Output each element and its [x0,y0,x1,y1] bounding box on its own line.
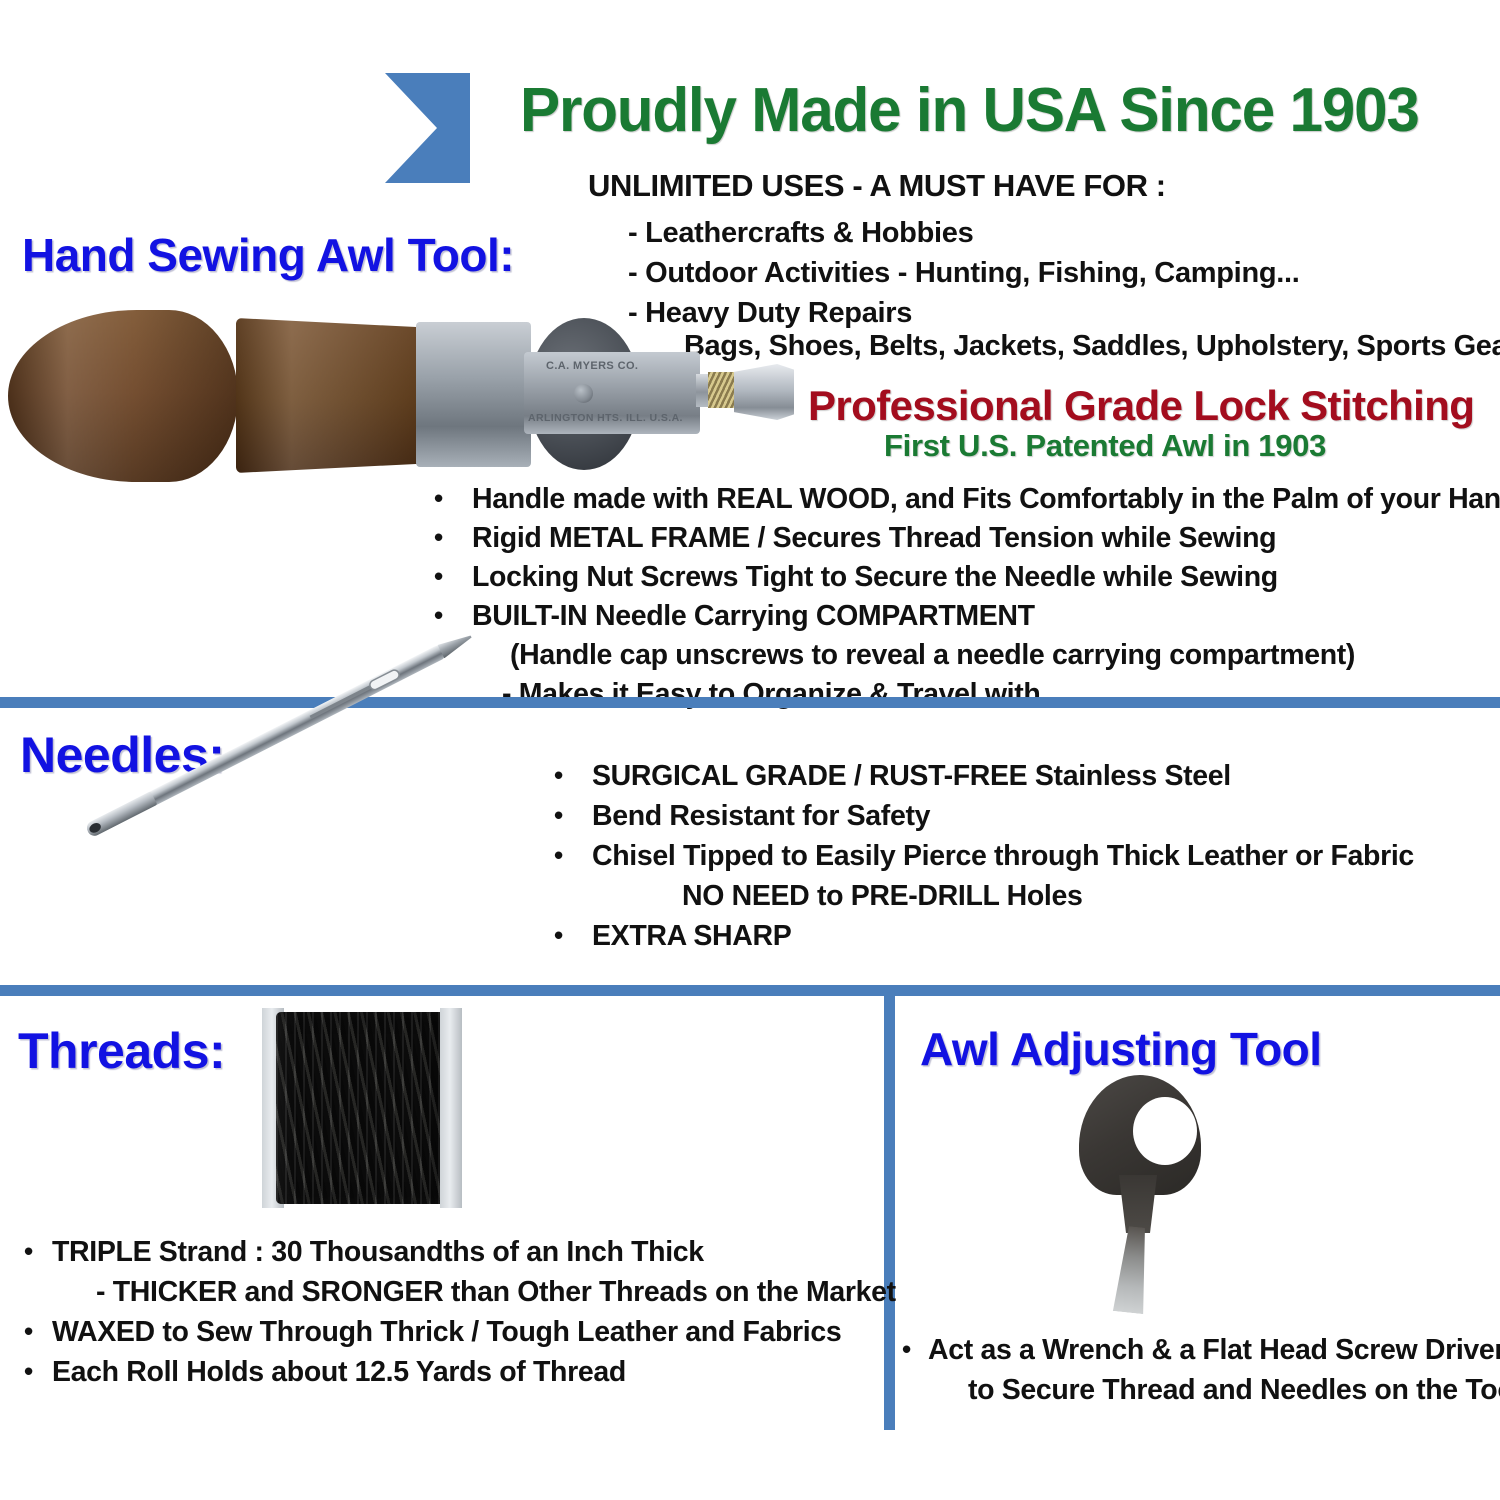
needle-hollow-shank [85,791,158,838]
list-item: Locking Nut Screws Tight to Secure the N… [472,558,1500,597]
awl-section-heading: Hand Sewing Awl Tool: [22,228,514,282]
unlimited-uses-title: UNLIMITED USES - A MUST HAVE FOR : [588,168,1166,204]
awl-engraving-location: ARLINGTON HTS. ILL. U.S.A. [528,412,683,424]
list-item: Bend Resistant for Safety [592,796,1414,836]
infographic-page: Quality Proudly Made in USA Since 1903 U… [0,0,1500,1500]
needle-photo [88,728,548,958]
awl-wooden-grip [236,318,421,473]
list-item: NO NEED to PRE-DRILL Holes [592,876,1414,916]
spool-flange-right [440,1008,462,1208]
needle-feature-list: SURGICAL GRADE / RUST-FREE Stainless Ste… [592,756,1414,956]
list-item: BUILT-IN Needle Carrying COMPARTMENT [472,597,1500,636]
list-item: to Secure Thread and Needles on the Tool [928,1370,1500,1410]
list-item: TRIPLE Strand : 30 Thousandths of an Inc… [52,1232,896,1272]
list-item: WAXED to Sew Through Thrick / Tough Leat… [52,1312,896,1352]
list-item: Act as a Wrench & a Flat Head Screw Driv… [928,1330,1500,1370]
spool-waxed-thread [276,1012,448,1204]
awl-tool-photo: C.A. MYERS CO. ARLINGTON HTS. ILL. U.S.A… [8,300,808,490]
awl-metal-ferrule [416,322,531,467]
needle-eye [369,670,399,691]
thread-feature-list: TRIPLE Strand : 30 Thousandths of an Inc… [52,1232,896,1392]
awl-locking-nut [734,364,794,420]
quality-banner: Quality [0,73,470,183]
lock-stitching-headline: Professional Grade Lock Stitching [808,382,1474,430]
list-item: Each Roll Holds about 12.5 Yards of Thre… [52,1352,896,1392]
needle-chisel-point [437,630,474,659]
list-item: - Makes it Easy to Organize & Travel wit… [472,675,1500,714]
needle-shank-bore [88,821,103,834]
wrench-neck [1113,1175,1163,1233]
awl-tension-screw [574,384,593,403]
thread-spool-photo [262,1008,462,1208]
wrench-ring-hole [1133,1097,1197,1165]
awl-thread-coil [708,372,736,408]
list-item: Chisel Tipped to Easily Pierce through T… [592,836,1414,876]
list-item: Rigid METAL FRAME / Secures Thread Tensi… [472,519,1500,558]
needle-shaft [85,643,448,838]
list-item: (Handle cap unscrews to reveal a needle … [472,636,1500,675]
made-in-usa-headline: Proudly Made in USA Since 1903 [520,80,1451,142]
quality-banner-label: Quality [52,91,299,166]
patent-subline: First U.S. Patented Awl in 1903 [884,428,1326,464]
wrench-flat-blade [1108,1225,1157,1315]
threads-section-heading: Threads: [18,1022,225,1080]
section-divider-horizontal [0,985,1500,996]
awl-adjusting-tool-photo [1055,1075,1235,1315]
adjusting-tool-feature-list: Act as a Wrench & a Flat Head Screw Driv… [928,1330,1500,1410]
awl-feature-list: Handle made with REAL WOOD, and Fits Com… [472,480,1500,714]
list-item: - Leathercrafts & Hobbies [628,213,1300,253]
list-item: EXTRA SHARP [592,916,1414,956]
awl-engraving-brand: C.A. MYERS CO. [546,360,638,372]
list-item: - Outdoor Activities - Hunting, Fishing,… [628,253,1300,293]
list-item: Handle made with REAL WOOD, and Fits Com… [472,480,1500,519]
section-divider-horizontal [0,697,1500,708]
adjusting-tool-section-heading: Awl Adjusting Tool [920,1022,1322,1076]
list-item: - THICKER and SRONGER than Other Threads… [52,1272,896,1312]
awl-wooden-knob [8,310,238,482]
list-item: SURGICAL GRADE / RUST-FREE Stainless Ste… [592,756,1414,796]
